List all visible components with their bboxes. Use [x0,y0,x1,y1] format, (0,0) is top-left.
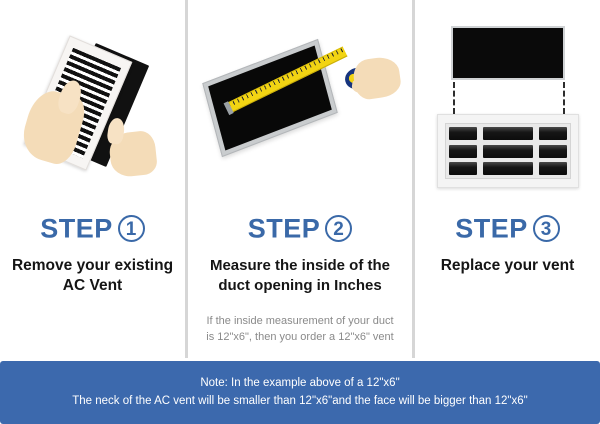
vent-louver [539,127,567,140]
step-2-illustration [188,0,412,200]
step-2-subtext-line-2: is 12"x6", then you order a 12"x6" vent [194,329,406,346]
step-3-label: STEP [455,213,528,243]
vent-louver [483,162,533,175]
replacement-vent-shape [437,114,579,188]
vent-grille [445,123,571,179]
step-1-label: STEP [40,213,113,243]
vent-louver-row [449,162,567,175]
vent-louver [449,162,477,175]
note-banner: Note: In the example above of a 12"x6" T… [0,361,600,424]
step-2-subtext: If the inside measurement of your duct i… [188,313,412,346]
vent-louver [449,145,477,158]
alignment-dashed-line-left [453,82,455,114]
step-1-illustration [0,0,185,200]
step-column-3: STEP3 Replace your vent [415,0,600,358]
vent-louver [483,127,533,140]
vent-louver [539,162,567,175]
vent-louver [449,127,477,140]
step-3-number-badge: 3 [533,215,560,242]
note-line-2: The neck of the AC vent will be smaller … [72,393,528,411]
step-2-heading: STEP2 [188,214,412,242]
vent-sizing-infographic: STEP1 Remove your existing AC Vent [0,0,600,424]
step-1-heading: STEP1 [0,214,185,242]
step-1-number-badge: 1 [118,215,145,242]
step-3-title: Replace your vent [415,256,600,276]
duct-opening-top-shape [451,26,565,80]
step-column-2: STEP2 Measure the inside of the duct ope… [188,0,412,358]
duct-measuring-icon [202,46,402,176]
step-2-label: STEP [248,213,321,243]
step-2-number-badge: 2 [325,215,352,242]
vent-louver [539,145,567,158]
vent-louver-row [449,145,567,158]
ac-vent-in-hands-icon [26,36,161,176]
step-column-1: STEP1 Remove your existing AC Vent [0,0,185,358]
step-2-subtext-line-1: If the inside measurement of your duct [194,313,406,330]
alignment-dashed-line-right [563,82,565,114]
note-line-1: Note: In the example above of a 12"x6" [200,375,399,393]
duct-opening-shape [202,39,338,157]
vent-louver [483,145,533,158]
step-1-title: Remove your existing AC Vent [0,256,185,296]
vent-louver-row [449,127,567,140]
vent-replacement-icon [435,20,581,190]
step-2-title: Measure the inside of the duct opening i… [188,256,412,294]
step-3-heading: STEP3 [415,214,600,242]
step-3-illustration [415,0,600,200]
